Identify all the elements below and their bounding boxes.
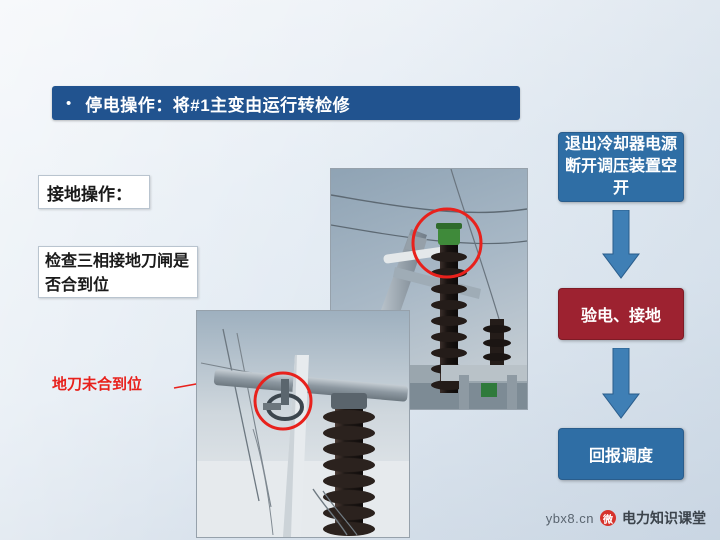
page-title: 停电操作：将#1主变由运行转检修 [85, 91, 350, 116]
label-grounding-operation: 接地操作： [38, 175, 150, 209]
slide-canvas: • 停电操作：将#1主变由运行转检修 接地操作： 检查三相接地刀闸是否合到位 地… [0, 0, 720, 540]
watermark-text: ybx8.cn [546, 511, 594, 526]
wechat-logo-icon: 微 [600, 510, 616, 526]
flow-step-1: 退出冷却器电源断开调压装置空开 [558, 132, 684, 202]
flow-step-3: 回报调度 [558, 428, 684, 480]
label-check-instruction: 检查三相接地刀闸是否合到位 [38, 246, 198, 298]
flow-step-3-label: 回报调度 [589, 442, 653, 466]
grounding-blade-photo [196, 310, 410, 538]
label-check-instruction-text: 检查三相接地刀闸是否合到位 [45, 253, 189, 294]
label-grounding-operation-text: 接地操作： [47, 180, 132, 205]
flow-step-2: 验电、接地 [558, 288, 684, 340]
bullet-icon: • [66, 96, 71, 111]
grounding-blade-image [197, 311, 409, 537]
slide-title-banner: • 停电操作：将#1主变由运行转检修 [52, 86, 520, 120]
footer-brand-text: 电力知识课堂 [622, 508, 706, 528]
red-annotation-text: 地刀未合到位 [52, 373, 142, 394]
flow-arrow-1-icon [602, 210, 640, 280]
flow-arrow-2-icon [602, 348, 640, 420]
footer-watermark: ybx8.cn 微 电力知识课堂 [546, 508, 706, 528]
flow-step-2-label: 验电、接地 [581, 302, 661, 326]
flow-step-1-label: 退出冷却器电源断开调压装置空开 [559, 134, 683, 200]
